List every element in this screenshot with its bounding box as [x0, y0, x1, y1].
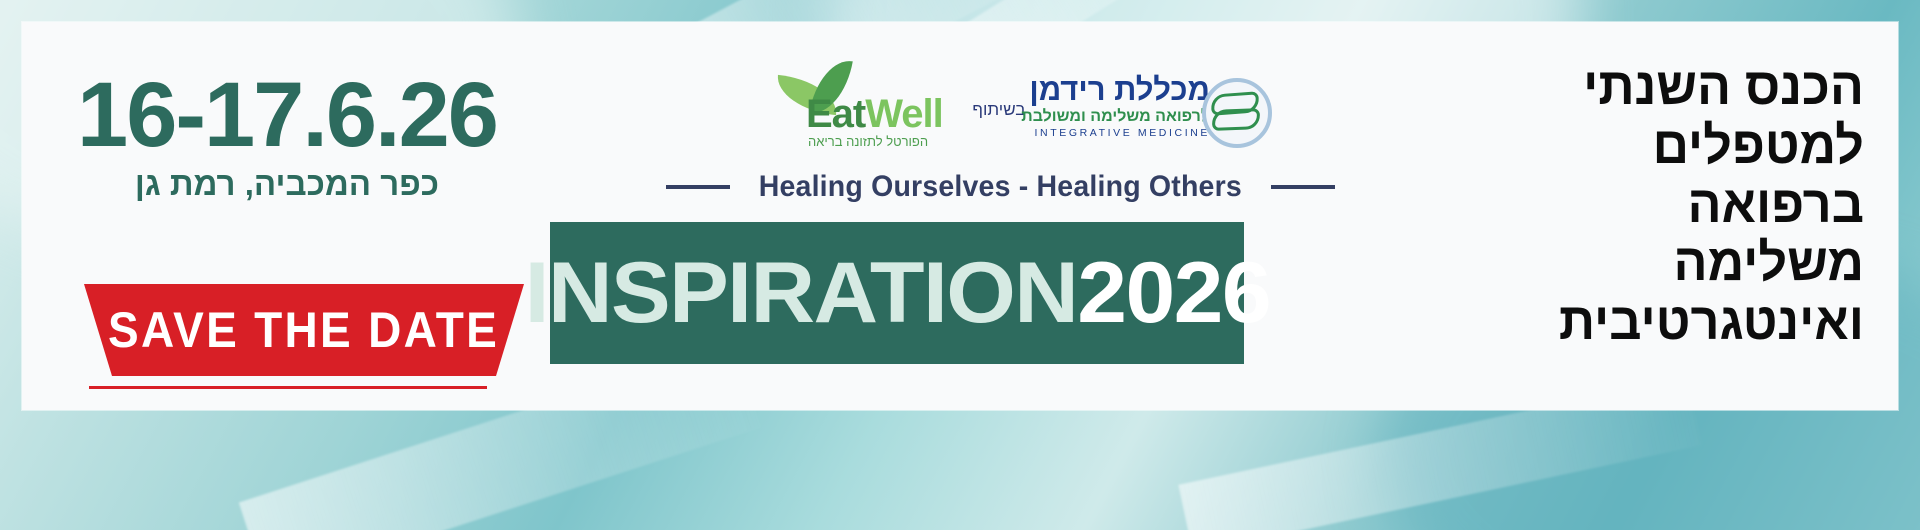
date-venue-block: 16-17.6.26 כפר המכביה, רמת גן [52, 72, 522, 203]
ridman-text-group: מכללת רידמן לרפואה משלימה ומשולבת INTEGR… [1021, 74, 1210, 139]
ribbon-underline [89, 386, 487, 389]
eatwell-tagline: הפורטל לתזונה בריאה [808, 134, 928, 149]
cooperation-label: בשיתוף [972, 100, 1025, 120]
inspiration-title-box: INSPIRATION2026 [550, 222, 1244, 364]
description-line-2: למטפלים [1544, 117, 1864, 176]
ridman-emblem-icon [1202, 78, 1272, 148]
ridman-english-subtitle: INTEGRATIVE MEDICINE [1021, 127, 1210, 139]
save-the-date-ribbon[interactable]: SAVE THE DATE [84, 284, 524, 394]
center-block: EatWell הפורטל לתזונה בריאה בשיתוף מכללת… [662, 56, 1272, 364]
conference-tagline-row: Healing Ourselves - Healing Others [662, 170, 1272, 204]
hand-icon-bottom [1212, 108, 1261, 131]
eatwell-name-part1: Eat [806, 92, 865, 136]
ribbon-shape[interactable]: SAVE THE DATE [84, 284, 524, 376]
eatwell-logo[interactable]: EatWell הפורטל לתזונה בריאה [772, 56, 958, 154]
event-date: 16-17.6.26 [52, 72, 522, 159]
eatwell-name-part2: Well [865, 92, 943, 136]
tagline-rule-right [1271, 185, 1335, 189]
ridman-name: מכללת רידמן [1021, 74, 1210, 107]
save-the-date-label: SAVE THE DATE [108, 301, 499, 359]
ridman-subtitle: לרפואה משלימה ומשולבת [1021, 107, 1210, 126]
inspiration-word: INSPIRATION [524, 245, 1077, 341]
tagline-rule-left [666, 185, 730, 189]
eatwell-wordmark: EatWell [806, 92, 943, 137]
conference-tagline: Healing Ourselves - Healing Others [759, 170, 1242, 204]
event-venue: כפר המכביה, רמת גן [52, 165, 522, 203]
event-banner: 16-17.6.26 כפר המכביה, רמת גן SAVE THE D… [0, 0, 1920, 530]
partner-logo-row: EatWell הפורטל לתזונה בריאה בשיתוף מכללת… [662, 56, 1272, 156]
description-line-4: משלימה [1544, 234, 1864, 293]
ridman-college-logo[interactable]: מכללת רידמן לרפואה משלימה ומשולבת INTEGR… [1039, 70, 1272, 166]
description-line-1: הכנס השנתי [1544, 58, 1864, 117]
description-line-3: ברפואה [1544, 176, 1864, 235]
description-line-5: ואינטגרטיבית [1544, 293, 1864, 352]
inspiration-year: 2026 [1077, 245, 1270, 341]
conference-description-block: הכנס השנתי למטפלים ברפואה משלימה ואינטגר… [1534, 58, 1864, 352]
banner-card: 16-17.6.26 כפר המכביה, רמת גן SAVE THE D… [22, 22, 1898, 410]
inspiration-title: INSPIRATION2026 [524, 250, 1269, 336]
